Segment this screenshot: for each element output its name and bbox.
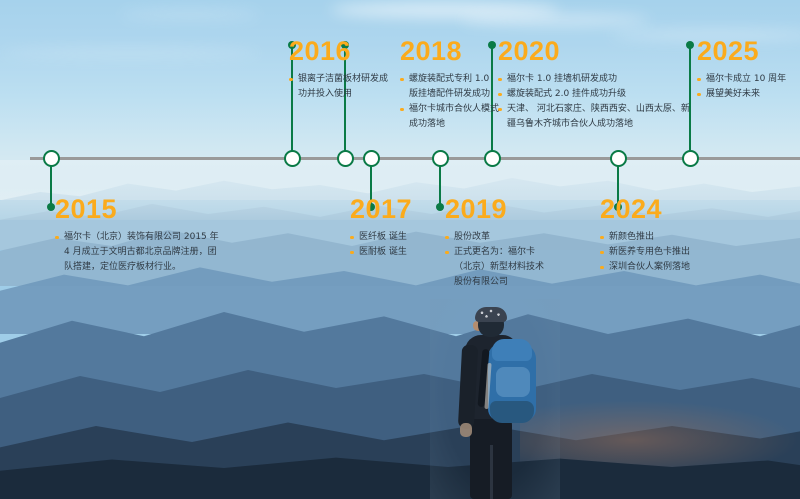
timeline-node-2020[interactable] (484, 150, 501, 167)
year-label-2024: 2024 (600, 196, 720, 223)
year-label-2020: 2020 (498, 38, 694, 65)
year-label-2018: 2018 (400, 38, 500, 65)
milestone-item: 螺旋装配式 2.0 挂件成功升级 (498, 87, 694, 102)
timeline-entry-2016[interactable]: 2016银离子洁菌板材研发成功并投入使用 (289, 38, 393, 102)
milestone-item: 股份改革 (445, 230, 545, 245)
milestone-item: 螺旋装配式专利 1.0 版挂墙配件研发成功 (400, 72, 500, 102)
milestone-item: 福尔卡成立 10 周年 (697, 72, 800, 87)
milestone-item: 银离子洁菌板材研发成功并投入使用 (289, 72, 393, 102)
timeline-entry-2015[interactable]: 2015福尔卡（北京）装饰有限公司 2015 年 4 月成立于文明古都北京品牌注… (55, 196, 223, 275)
hiker-leg-gap (490, 445, 493, 499)
milestone-list-2016: 银离子洁菌板材研发成功并投入使用 (289, 72, 393, 102)
hiker-beanie-pattern (476, 308, 506, 320)
hiker-figure (440, 305, 550, 499)
milestone-list-2019: 股份改革正式更名为：福尔卡（北京）新型材料技术股份有限公司 (445, 230, 545, 290)
timeline-entry-2024[interactable]: 2024新颜色推出新医养专用色卡推出深圳合伙人案例落地 (600, 196, 720, 275)
milestone-item: 福尔卡城市合伙人模式成功落地 (400, 102, 500, 132)
timeline-entry-2017[interactable]: 2017医纤板 诞生医耐板 诞生 (350, 196, 446, 260)
milestone-item: 展望美好未来 (697, 87, 800, 102)
milestone-list-2017: 医纤板 诞生医耐板 诞生 (350, 230, 446, 260)
timeline-node-2019[interactable] (432, 150, 449, 167)
year-label-2016: 2016 (289, 38, 393, 65)
timeline-entry-2020[interactable]: 2020福尔卡 1.0 挂墙机研发成功螺旋装配式 2.0 挂件成功升级天津、 河… (498, 38, 694, 132)
timeline-entry-2018[interactable]: 2018螺旋装配式专利 1.0 版挂墙配件研发成功福尔卡城市合伙人模式成功落地 (400, 38, 500, 132)
milestone-list-2018: 螺旋装配式专利 1.0 版挂墙配件研发成功福尔卡城市合伙人模式成功落地 (400, 72, 500, 132)
timeline-node-2015[interactable] (43, 150, 60, 167)
timeline-entry-2025[interactable]: 2025福尔卡成立 10 周年展望美好未来 (697, 38, 800, 102)
timeline-node-2016[interactable] (284, 150, 301, 167)
timeline-entry-2019[interactable]: 2019股份改革正式更名为：福尔卡（北京）新型材料技术股份有限公司 (445, 196, 545, 290)
milestone-item: 新颜色推出 (600, 230, 720, 245)
timeline-node-2018[interactable] (337, 150, 354, 167)
milestone-list-2020: 福尔卡 1.0 挂墙机研发成功螺旋装配式 2.0 挂件成功升级天津、 河北石家庄… (498, 72, 694, 132)
hiker-backpack-base (490, 401, 534, 423)
year-label-2017: 2017 (350, 196, 446, 223)
milestone-item: 新医养专用色卡推出 (600, 245, 720, 260)
milestone-list-2025: 福尔卡成立 10 周年展望美好未来 (697, 72, 800, 102)
cloud-shape (0, 48, 260, 58)
cloud-shape (120, 10, 260, 19)
hiker-backpack-lid (492, 339, 532, 361)
milestone-list-2015: 福尔卡（北京）装饰有限公司 2015 年 4 月成立于文明古都北京品牌注册，团队… (55, 230, 223, 275)
year-label-2015: 2015 (55, 196, 223, 223)
milestone-item: 福尔卡（北京）装饰有限公司 2015 年 4 月成立于文明古都北京品牌注册，团队… (55, 230, 223, 275)
timeline-node-2017[interactable] (363, 150, 380, 167)
milestone-item: 正式更名为：福尔卡（北京）新型材料技术股份有限公司 (445, 245, 545, 290)
milestone-item: 天津、 河北石家庄、陕西西安、山西太原、新疆乌鲁木齐城市合伙人成功落地 (498, 102, 694, 132)
milestone-list-2024: 新颜色推出新医养专用色卡推出深圳合伙人案例落地 (600, 230, 720, 275)
hiker-hand (460, 423, 472, 437)
stem-endpoint-dot (47, 203, 55, 211)
timeline-node-2025[interactable] (682, 150, 699, 167)
milestone-item: 深圳合伙人案例落地 (600, 260, 720, 275)
timeline-node-2024[interactable] (610, 150, 627, 167)
milestone-item: 福尔卡 1.0 挂墙机研发成功 (498, 72, 694, 87)
year-label-2025: 2025 (697, 38, 800, 65)
milestone-item: 医耐板 诞生 (350, 245, 446, 260)
milestone-item: 医纤板 诞生 (350, 230, 446, 245)
year-label-2019: 2019 (445, 196, 545, 223)
timeline-infographic: 2015福尔卡（北京）装饰有限公司 2015 年 4 月成立于文明古都北京品牌注… (0, 0, 800, 499)
cloud-shape (460, 14, 650, 26)
hiker-backpack-panel (496, 367, 530, 397)
